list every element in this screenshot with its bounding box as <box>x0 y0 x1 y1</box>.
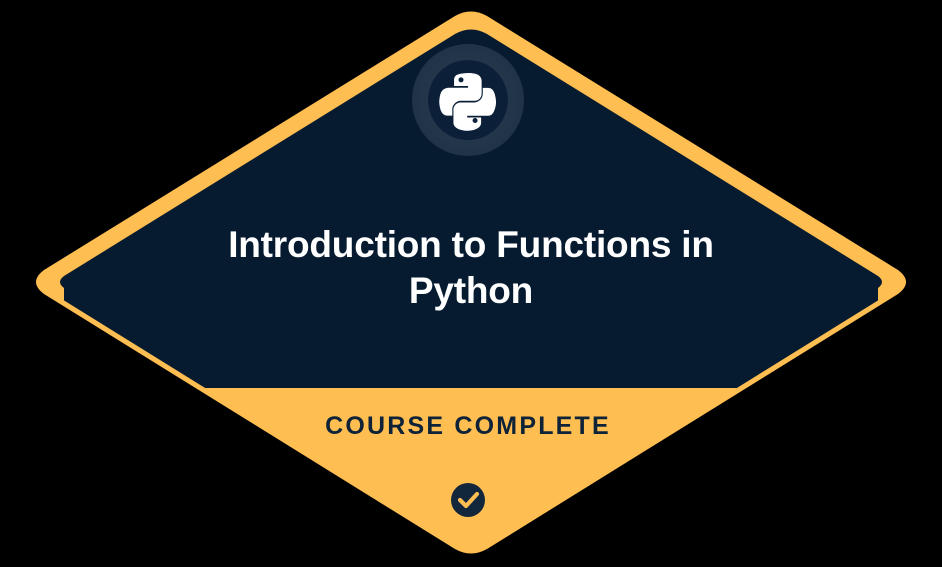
badge-graphic <box>0 0 942 567</box>
python-logo-eye-bottom <box>473 118 478 123</box>
python-logo-eye-top <box>459 77 464 82</box>
check-circle-background <box>451 483 485 517</box>
course-completion-badge: Introduction to Functions in Python COUR… <box>0 0 942 567</box>
